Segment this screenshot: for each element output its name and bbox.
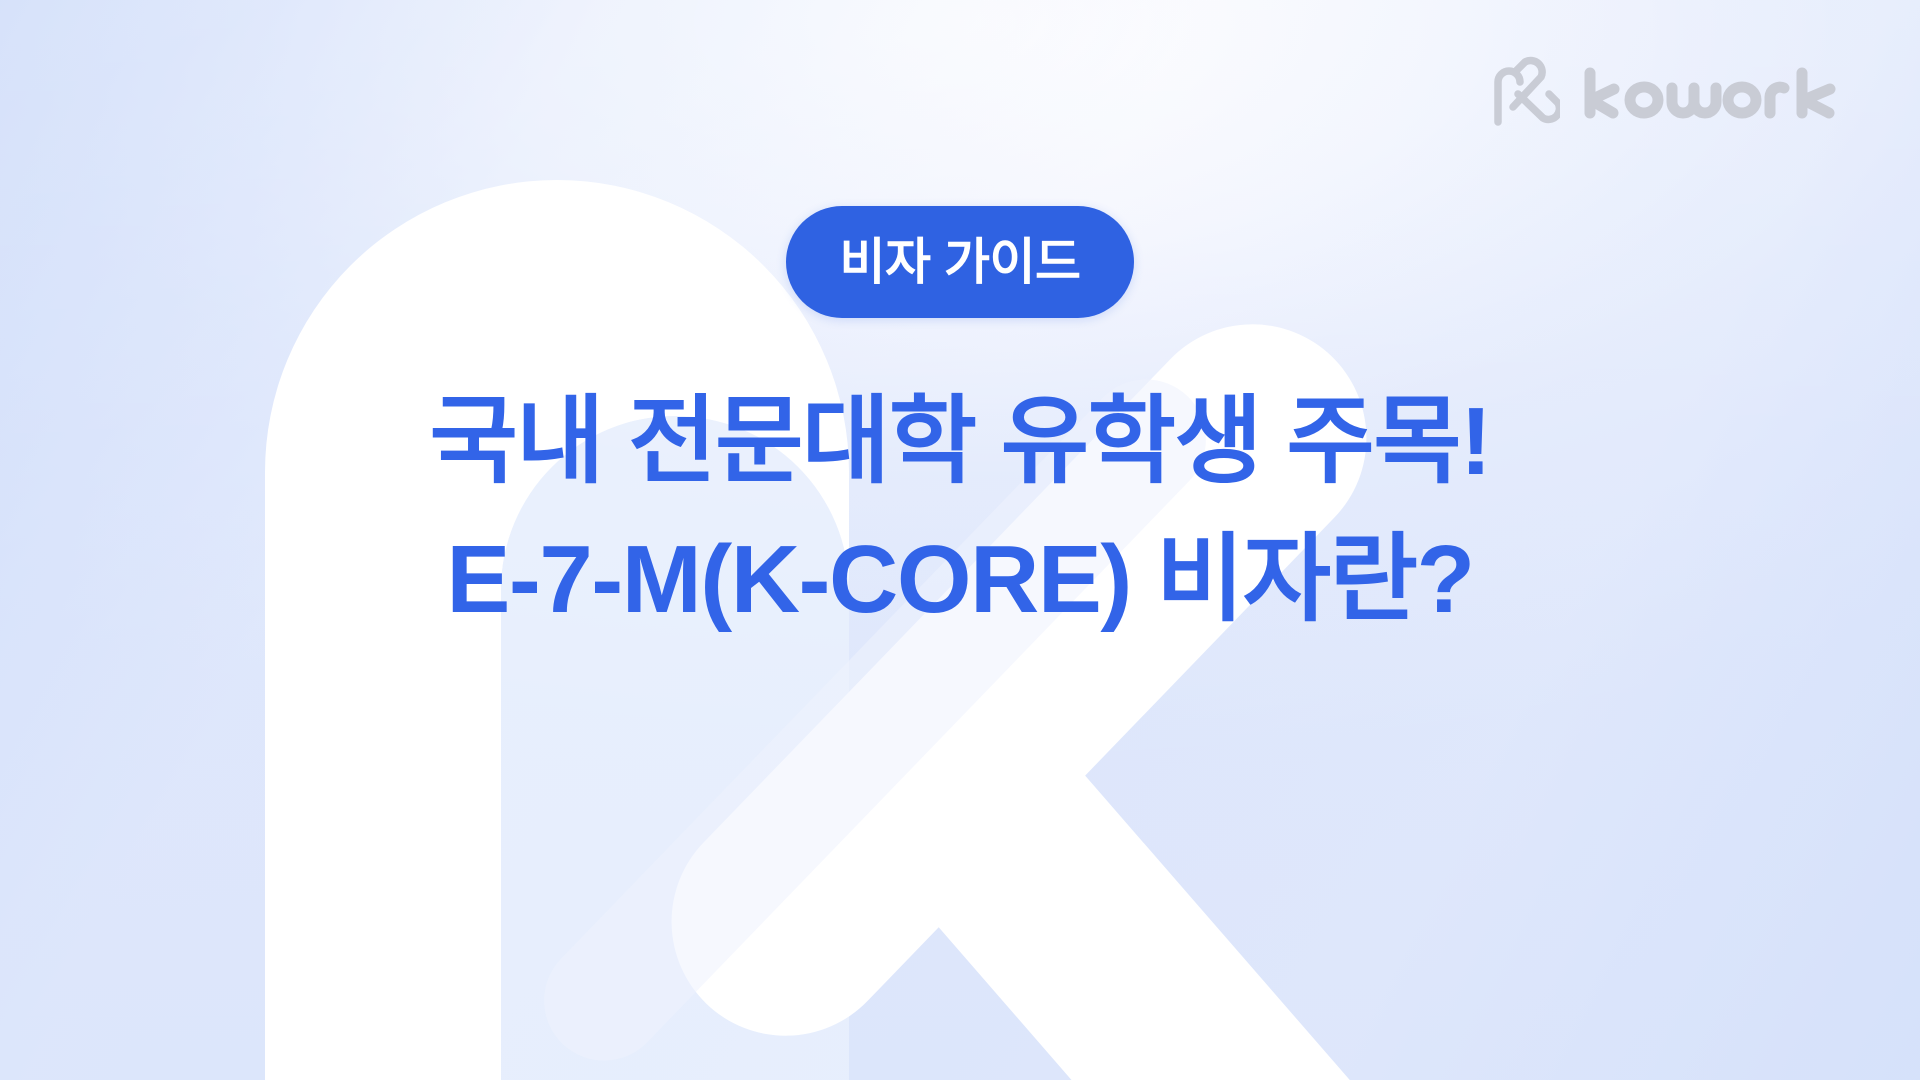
visa-guide-banner: 비자 가이드 국내 전문대학 유학생 주목! E-7-M(K-CORE) 비자란…: [0, 0, 1920, 1080]
page-title: 국내 전문대학 유학생 주목! E-7-M(K-CORE) 비자란?: [429, 374, 1490, 649]
visa-guide-badge[interactable]: 비자 가이드: [786, 206, 1135, 318]
headline-line-2: E-7-M(K-CORE) 비자란?: [429, 512, 1490, 648]
headline-line-1: 국내 전문대학 유학생 주목!: [429, 374, 1490, 510]
banner-content: 비자 가이드 국내 전문대학 유학생 주목! E-7-M(K-CORE) 비자란…: [0, 206, 1920, 649]
kowork-wordmark: [1582, 67, 1842, 119]
kowork-logo[interactable]: [1486, 56, 1842, 130]
kowork-k-mark-icon: [1486, 56, 1560, 130]
